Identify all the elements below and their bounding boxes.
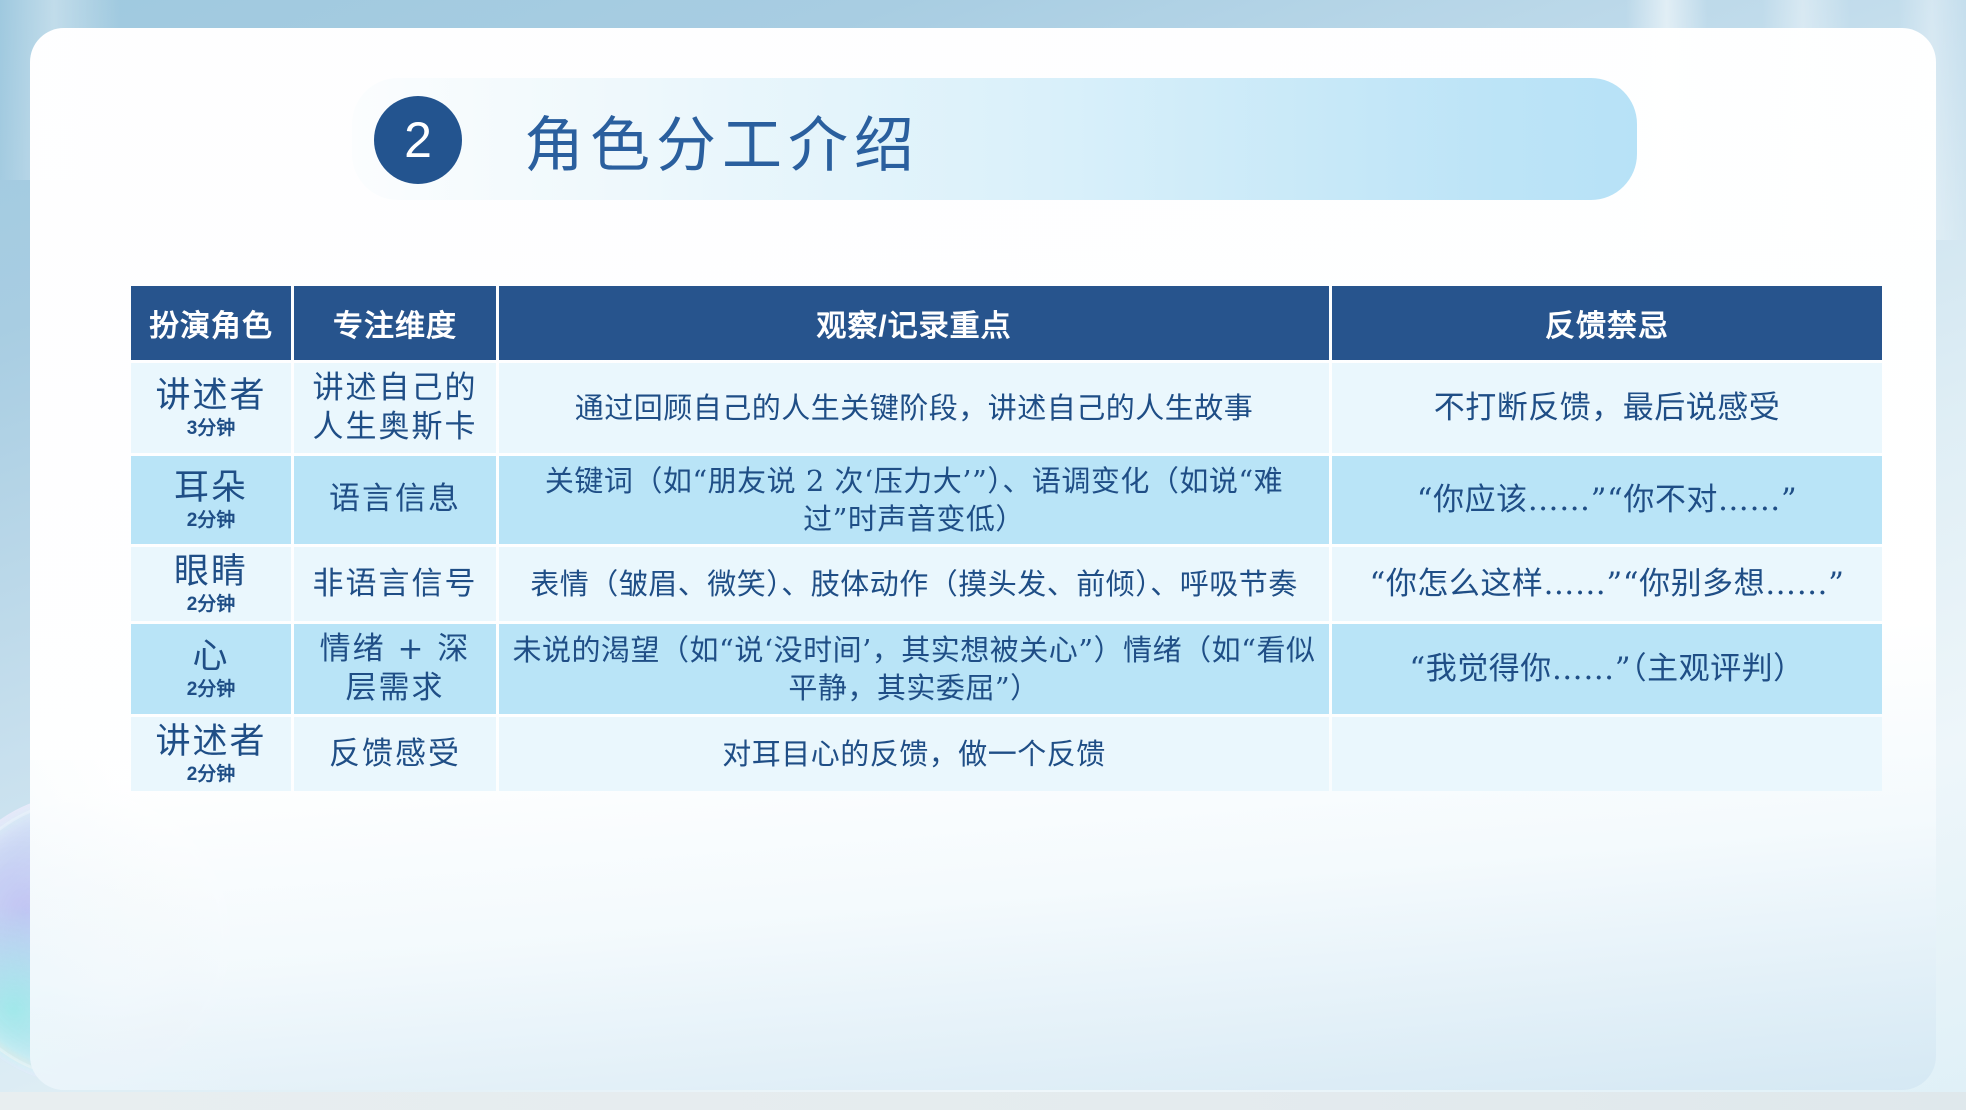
cell-role: 耳朵 2分钟 (131, 456, 291, 545)
table-row: 耳朵 2分钟 语言信息 关键词（如“朋友说 2 次‘压力大’”）、语调变化（如说… (131, 456, 1882, 545)
role-name: 心 (141, 638, 281, 677)
cell-dimension: 情绪 + 深层需求 (294, 624, 496, 714)
cell-taboo: 不打断反馈，最后说感受 (1332, 363, 1882, 453)
cell-focus: 关键词（如“朋友说 2 次‘压力大’”）、语调变化（如说“难过”时声音变低） (499, 456, 1329, 545)
cell-taboo: “你怎么这样……”“你别多想……” (1332, 547, 1882, 621)
column-header-taboo: 反馈禁忌 (1332, 286, 1882, 360)
table-row: 讲述者 2分钟 反馈感受 对耳目心的反馈，做一个反馈 (131, 717, 1882, 791)
cell-taboo: “我觉得你……”（主观评判） (1332, 624, 1882, 714)
column-header-dimension: 专注维度 (294, 286, 496, 360)
table-row: 眼睛 2分钟 非语言信号 表情（皱眉、微笑）、肢体动作（摸头发、前倾）、呼吸节奏… (131, 547, 1882, 621)
table-header-row: 扮演角色 专注维度 观察/记录重点 反馈禁忌 (131, 286, 1882, 360)
role-name: 讲述者 (141, 377, 281, 416)
role-duration: 2分钟 (141, 594, 281, 615)
role-name: 耳朵 (141, 469, 281, 508)
page-title: 角色分工介绍 (524, 88, 920, 192)
role-duration: 2分钟 (141, 764, 281, 785)
role-name: 讲述者 (141, 723, 281, 762)
cell-focus: 通过回顾自己的人生关键阶段，讲述自己的人生故事 (499, 363, 1329, 453)
cell-focus: 对耳目心的反馈，做一个反馈 (499, 717, 1329, 791)
section-number-badge: 2 (374, 96, 462, 184)
table-header: 扮演角色 专注维度 观察/记录重点 反馈禁忌 (131, 286, 1882, 360)
cell-focus: 表情（皱眉、微笑）、肢体动作（摸头发、前倾）、呼吸节奏 (499, 547, 1329, 621)
cell-dimension: 非语言信号 (294, 547, 496, 621)
roles-table: 扮演角色 专注维度 观察/记录重点 反馈禁忌 讲述者 3分钟 讲述自己的人生奥斯… (128, 283, 1885, 794)
page-bottom-strip (0, 1092, 1966, 1110)
cell-role: 心 2分钟 (131, 624, 291, 714)
role-duration: 3分钟 (141, 418, 281, 439)
cell-role: 讲述者 3分钟 (131, 363, 291, 453)
cell-dimension: 语言信息 (294, 456, 496, 545)
slide: 2 角色分工介绍 扮演角色 专注维度 观察/记录重点 反馈禁忌 (0, 0, 1966, 1110)
column-header-role: 扮演角色 (131, 286, 291, 360)
cell-dimension: 反馈感受 (294, 717, 496, 791)
cell-taboo (1332, 717, 1882, 791)
column-header-focus: 观察/记录重点 (499, 286, 1329, 360)
cell-role: 讲述者 2分钟 (131, 717, 291, 791)
cell-taboo: “你应该……”“你不对……” (1332, 456, 1882, 545)
role-duration: 2分钟 (141, 679, 281, 700)
slide-card: 2 角色分工介绍 扮演角色 专注维度 观察/记录重点 反馈禁忌 (30, 28, 1936, 1090)
table-body: 讲述者 3分钟 讲述自己的人生奥斯卡 通过回顾自己的人生关键阶段，讲述自己的人生… (131, 363, 1882, 791)
table-row: 讲述者 3分钟 讲述自己的人生奥斯卡 通过回顾自己的人生关键阶段，讲述自己的人生… (131, 363, 1882, 453)
table-row: 心 2分钟 情绪 + 深层需求 未说的渴望（如“说‘没时间’，其实想被关心”）情… (131, 624, 1882, 714)
card-bottom-left-veil (30, 760, 230, 1090)
cell-role: 眼睛 2分钟 (131, 547, 291, 621)
role-duration: 2分钟 (141, 510, 281, 531)
role-name: 眼睛 (141, 553, 281, 592)
cell-focus: 未说的渴望（如“说‘没时间’，其实想被关心”）情绪（如“看似平静，其实委屈”） (499, 624, 1329, 714)
cell-dimension: 讲述自己的人生奥斯卡 (294, 363, 496, 453)
roles-table-container: 扮演角色 专注维度 观察/记录重点 反馈禁忌 讲述者 3分钟 讲述自己的人生奥斯… (128, 283, 1870, 794)
